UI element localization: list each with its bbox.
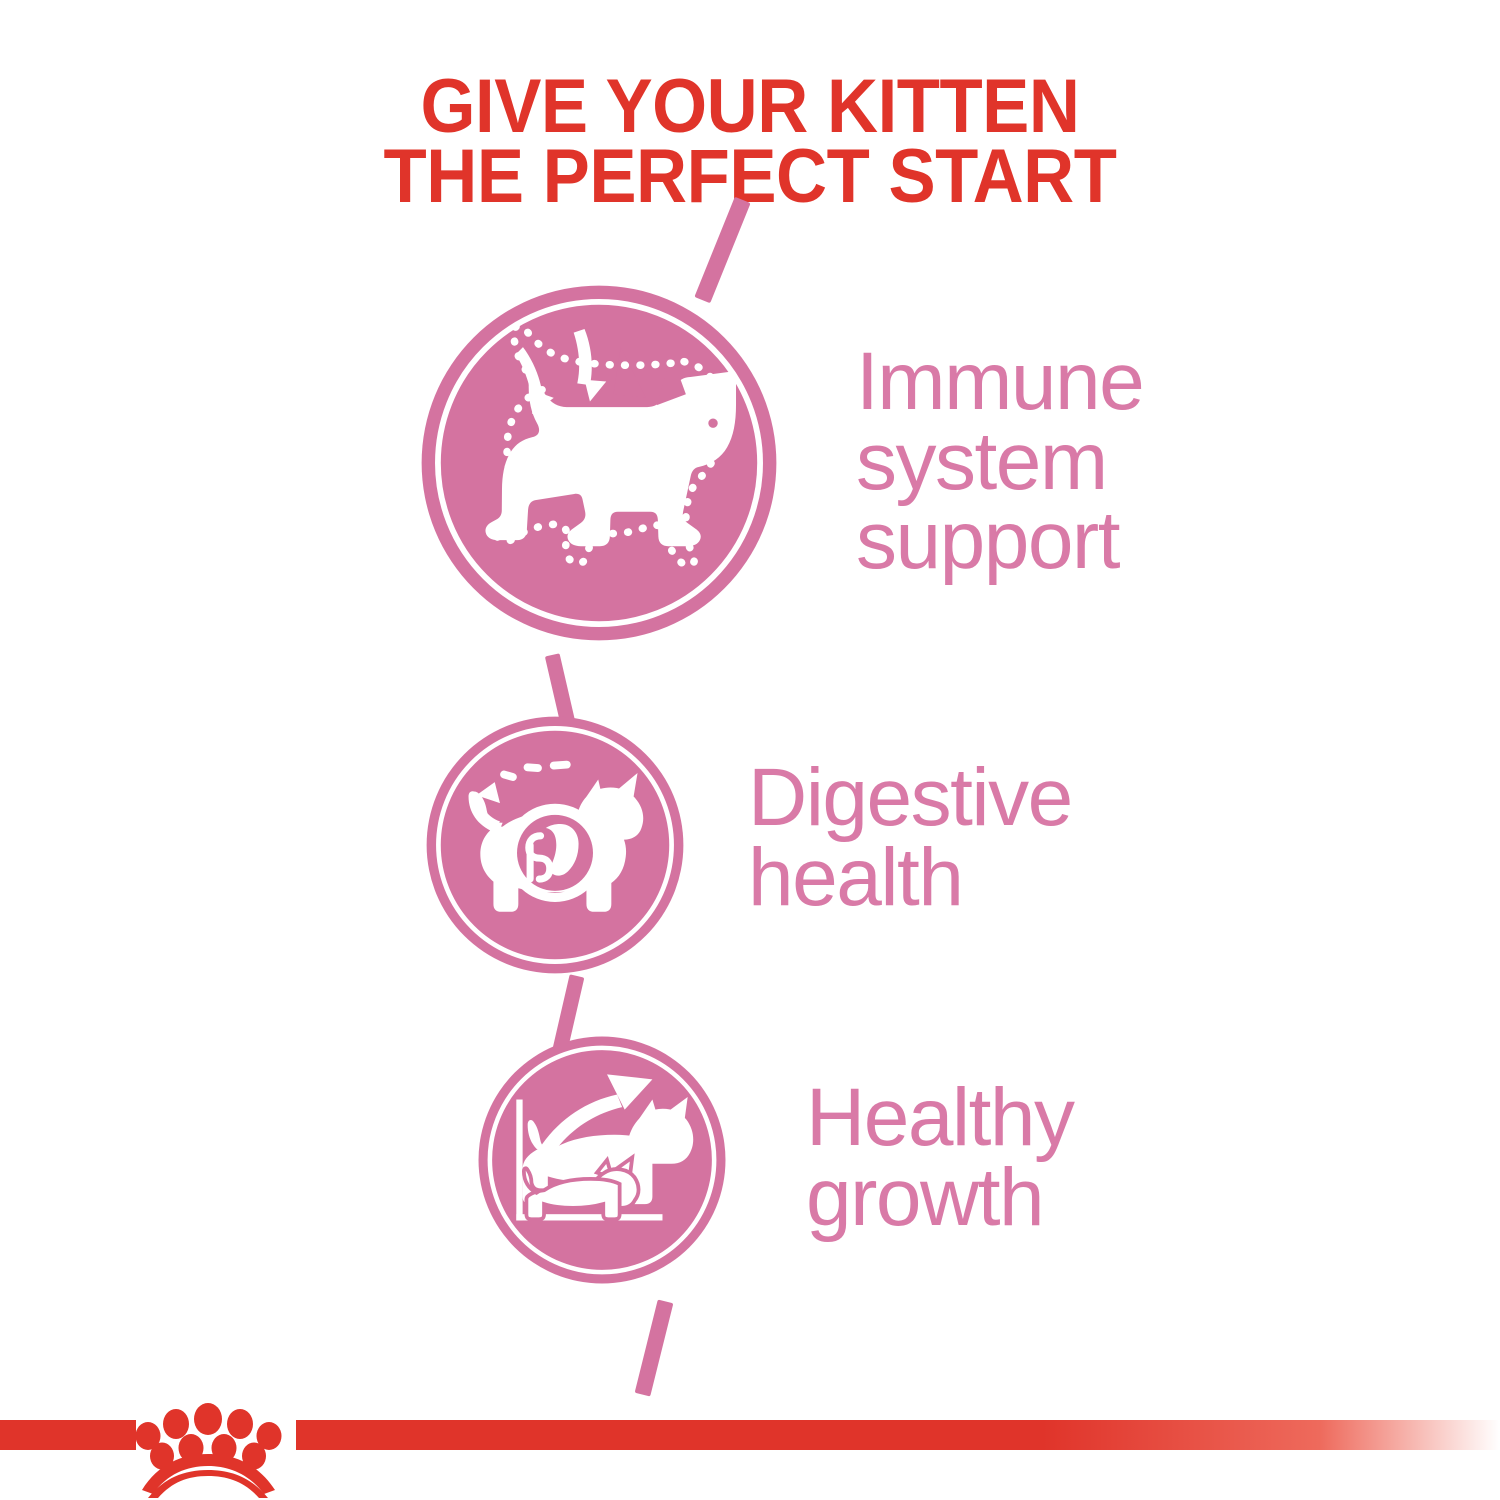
kitten-healthy-growth-icon [476,1034,728,1286]
brand-bar-left-segment [0,1420,136,1450]
benefit-label-digestive: Digestive health [748,758,1072,917]
page-title: GIVE YOUR KITTEN THE PERFECT START [53,2,1448,282]
infographic-canvas: GIVE YOUR KITTEN THE PERFECT START [0,0,1500,1500]
brand-bar-right-segment [296,1420,1500,1450]
benefit-label-growth: Healthy growth [806,1078,1074,1237]
connector-dash-bottom [635,1299,674,1396]
benefit-label-immune: Immune system support [856,342,1143,581]
royal-canin-crown-logo [118,1398,300,1498]
kitten-immune-shield-icon [418,282,780,644]
headline-line-2: THE PERFECT START [53,142,1448,212]
kitten-digestive-health-icon [424,714,686,976]
